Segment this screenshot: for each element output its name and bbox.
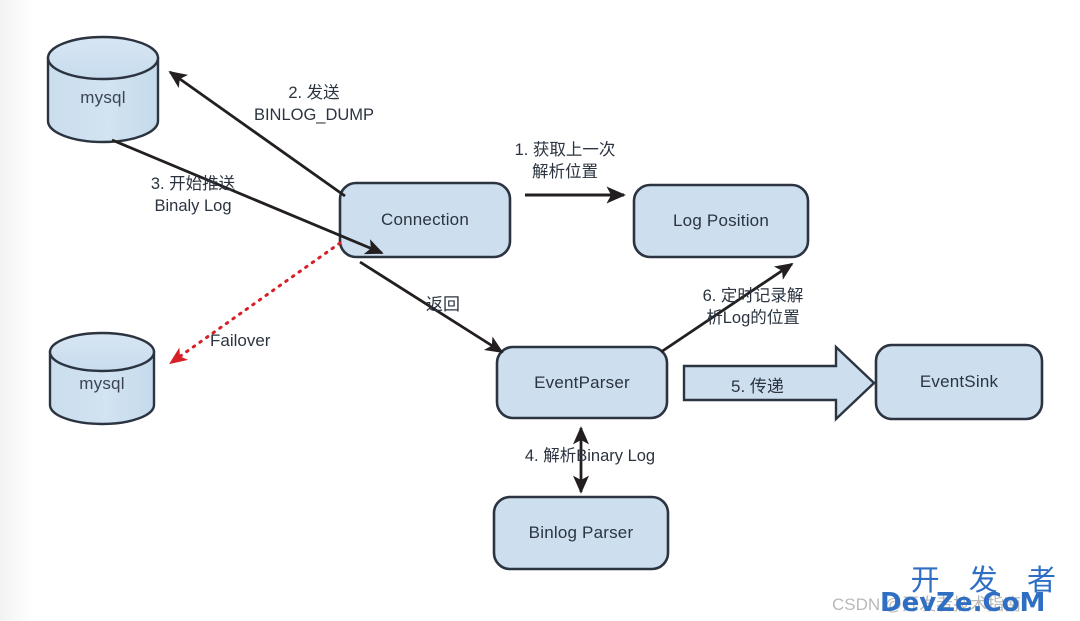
node-mysql-standby[interactable] [50,333,154,424]
arrow-return [360,262,502,352]
arrow-failover [172,243,340,362]
diagram-canvas: mysql mysql Connection Log Position Even… [0,0,1080,621]
node-log-position[interactable] [634,185,808,257]
node-mysql-master[interactable] [48,37,158,142]
arrow-send-binlog-dump [170,72,345,196]
watermark: 开 发 者 CSDN @开发者技术指南 DevZe.CoM [824,557,1074,619]
node-binlog-parser[interactable] [494,497,668,569]
watermark-site-text: DevZe.CoM [880,588,1045,618]
node-event-parser[interactable] [497,347,667,418]
arrow-record-log-position [661,264,792,352]
arrow-transfer-block [684,347,874,419]
diagram-vector-layer [0,0,1080,621]
node-event-sink[interactable] [876,345,1042,419]
